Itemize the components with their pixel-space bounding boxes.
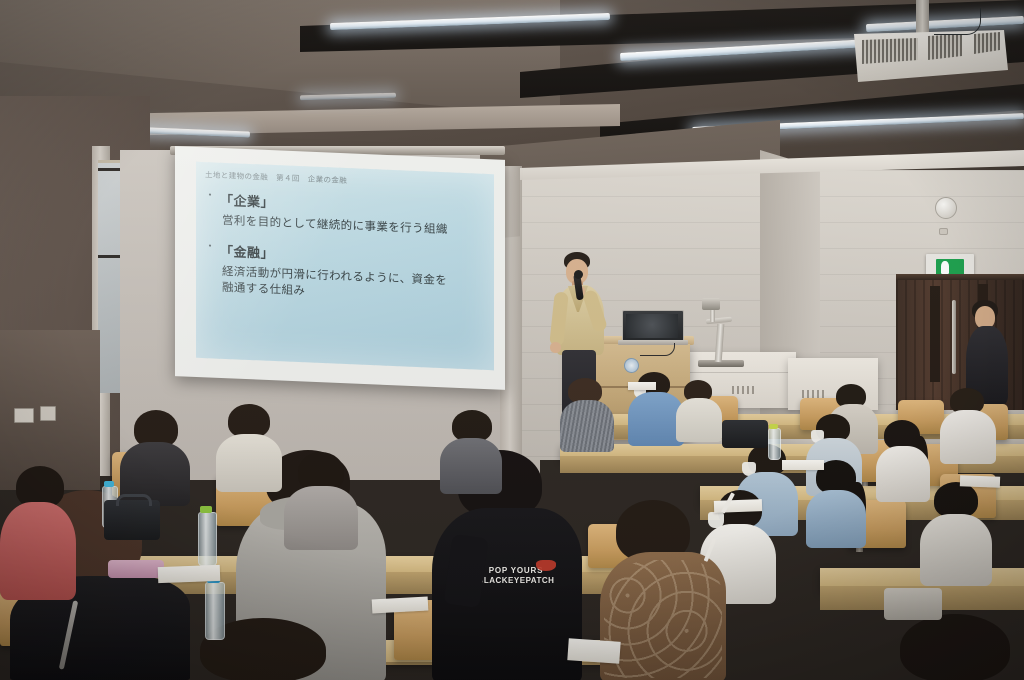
backpack-3: [884, 588, 942, 620]
projector-vent-right: [928, 34, 962, 60]
student-near-right-bottom: [880, 614, 1024, 680]
student-hair: [934, 482, 978, 518]
bottle-cap-4: [769, 424, 778, 429]
student-hair: [228, 404, 270, 438]
hoodie-pattern: [604, 560, 722, 678]
pencil-case: [108, 560, 164, 578]
bullet-body: 経済活動が円滑に行われるように、資金を 融通する仕組み: [222, 264, 485, 308]
presenter-hand-lower: [550, 342, 561, 353]
student-mid-3: [284, 452, 358, 546]
wall-switch-panel-2: [40, 406, 56, 421]
student-right-6: [806, 460, 866, 544]
door-header-bar: [896, 274, 1024, 280]
document-camera-head: [702, 298, 720, 310]
lecture-hall-photo: 土地と建物の金融 第４回 企業の金融 ・ 「企業」 営利を目的として継続的に事業…: [0, 0, 1024, 680]
water-bottle-2: [198, 512, 217, 566]
student-near-bottom: [170, 618, 360, 680]
student-right-7: [920, 482, 992, 582]
door-window: [930, 286, 940, 382]
bullet-term: 「企業」: [220, 190, 274, 211]
bullet-term: 「金融」: [220, 240, 274, 261]
door-handle[interactable]: [952, 300, 956, 374]
notebook-6: [628, 382, 656, 390]
cabinet-vent-3: [802, 390, 824, 398]
tshirt-print-line2: BLACKEYEPATCH: [474, 576, 558, 586]
slide-bullet-group-2: ・ 「金融」 経済活動が円滑に行われるように、資金を 融通する仕組み: [205, 240, 485, 308]
podium-emblem: [624, 358, 639, 373]
bottle-cap-2: [200, 506, 212, 513]
water-bottle-3: [205, 582, 225, 640]
tshirt-print: POP YOURS BLACKEYEPATCH: [474, 566, 558, 600]
laptop-cable: [640, 343, 675, 356]
student-body: [940, 410, 996, 464]
bullet-marker: ・: [205, 189, 215, 208]
tshirt-print-accent: [536, 560, 556, 571]
notebook-1: [158, 565, 221, 583]
student-mid-4: [440, 410, 502, 488]
bottle-cap-1: [104, 481, 114, 487]
student-body: [440, 438, 502, 494]
slide-bullet-group-1: ・ 「企業」 営利を目的として継続的に事業を行う組織: [205, 189, 485, 240]
backpack-2: [722, 420, 768, 448]
student-right-2: [940, 388, 996, 460]
water-bottle-4: [768, 428, 781, 460]
wall-switch-panel: [14, 408, 34, 423]
cabinet-seam-1: [672, 372, 796, 373]
student-body: [284, 486, 358, 550]
slide-header: 土地と建物の金融 第４回 企業の金融: [205, 169, 485, 192]
student-body: [676, 398, 722, 442]
notebook-7: [960, 475, 1000, 487]
projector-cable: [934, 8, 981, 35]
notebook-2: [372, 597, 429, 614]
student-mid-2: [216, 404, 282, 488]
smoke-detector-icon: [939, 228, 948, 235]
student-mid-left: [120, 410, 190, 502]
student-pink-left: [0, 466, 76, 596]
projector-vent-left: [862, 38, 918, 64]
student-body: [560, 400, 614, 452]
laptop-display: [626, 314, 678, 338]
notebook-3: [567, 638, 620, 664]
notebook-5: [782, 460, 824, 470]
projected-slide: 土地と建物の金融 第４回 企業の金融 ・ 「企業」 営利を目的として継続的に事業…: [196, 162, 494, 370]
bullet-marker: ・: [205, 240, 215, 259]
backpack-strap: [116, 494, 152, 506]
student-far-1: [560, 378, 614, 448]
student-body: [216, 434, 282, 492]
student-body: [920, 514, 992, 586]
backpack-1: [104, 500, 160, 540]
student-far-3: [676, 380, 722, 440]
student-hair: [900, 614, 1010, 680]
projector-mount-pole: [916, 0, 929, 34]
cabinet-vent-2: [732, 386, 756, 394]
wall-clock: [935, 197, 957, 219]
student-body: [0, 502, 76, 600]
microphone-head: [574, 270, 583, 279]
student-body: [806, 490, 866, 548]
